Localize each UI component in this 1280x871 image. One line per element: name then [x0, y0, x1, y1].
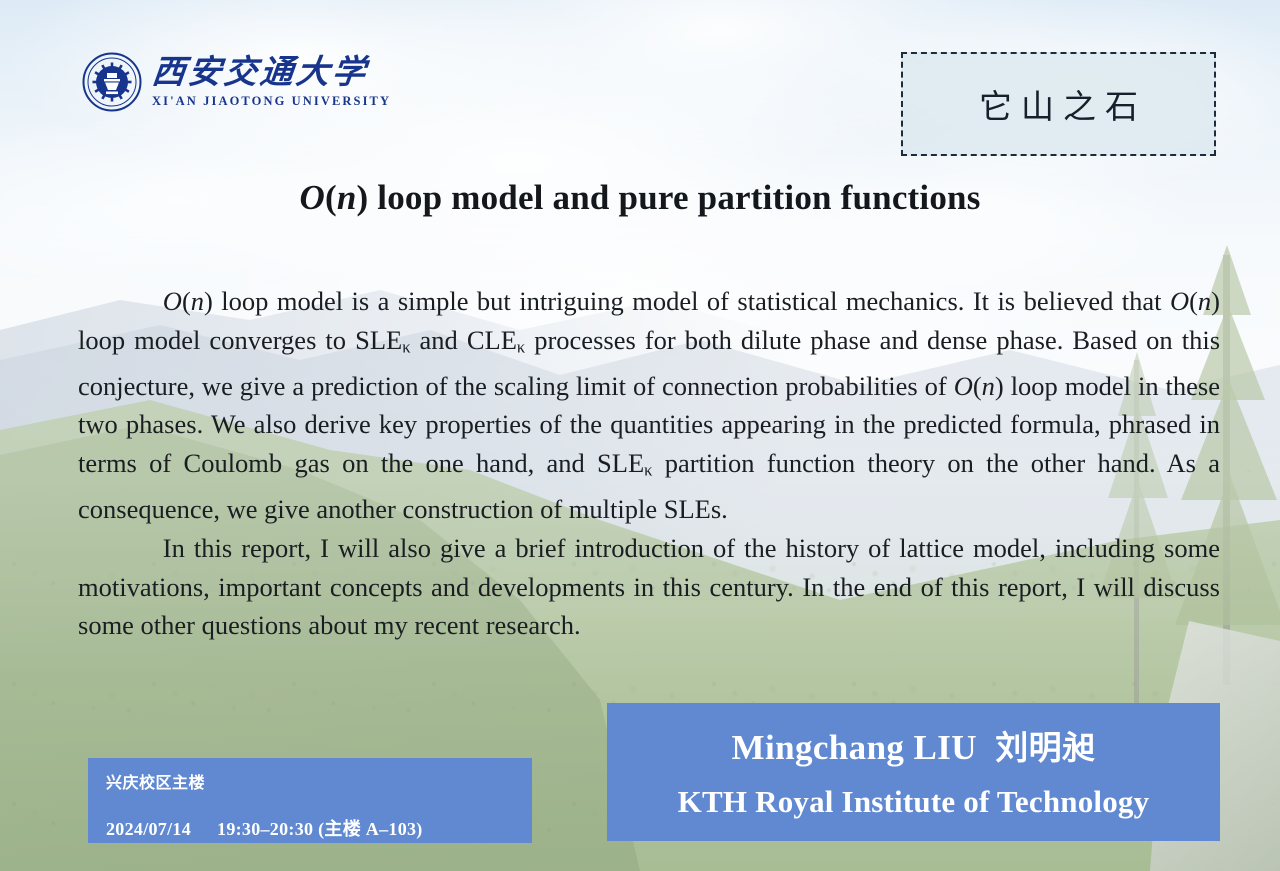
mi-o-3: O: [954, 371, 973, 401]
abs-text-3: and CLE: [410, 325, 516, 355]
seminar-poster: 西安交通大学 XI'AN JIAOTONG UNIVERSITY 它山之石 O(…: [0, 0, 1280, 871]
abstract: O(n) loop model is a simple but intrigui…: [78, 282, 1220, 645]
mi-o-1: O: [163, 286, 182, 316]
mi-o-2: O: [1170, 286, 1189, 316]
speaker-affiliation: KTH Royal Institute of Technology: [607, 784, 1220, 820]
abstract-paragraph-2: In this report, I will also give a brief…: [78, 529, 1220, 645]
venue-datetime: 2024/07/1419:30–20:30 (主楼 A–103): [106, 815, 532, 841]
xjtu-seal-icon: [82, 52, 142, 112]
poster-content: 西安交通大学 XI'AN JIAOTONG UNIVERSITY 它山之石 O(…: [0, 0, 1280, 871]
title-o: O: [299, 178, 324, 217]
page-title: O(n) loop model and pure partition funct…: [0, 178, 1280, 218]
venue-place: 兴庆校区主楼: [106, 769, 532, 793]
abs-text-1: ) loop model is a simple but intriguing …: [204, 286, 1170, 316]
mi-n-2: n: [1198, 286, 1211, 316]
speaker-box: Mingchang LIU 刘明昶 KTH Royal Institute of…: [607, 703, 1220, 841]
logo-name-cn: 西安交通大学: [150, 57, 393, 90]
title-n: n: [337, 178, 357, 217]
venue-time-room: 19:30–20:30 (主楼 A–103): [217, 819, 423, 839]
speaker-name: Mingchang LIU 刘明昶: [607, 721, 1220, 769]
venue-date: 2024/07/14: [106, 819, 191, 839]
mi-n-3: n: [982, 371, 995, 401]
cle-kappa-sub: κ: [517, 337, 525, 356]
speaker-name-en: Mingchang LIU: [732, 728, 977, 767]
logo-name-en: XI'AN JIAOTONG UNIVERSITY: [152, 95, 391, 108]
series-badge: 它山之石: [901, 52, 1216, 156]
title-rest: ) loop model and pure partition function…: [356, 178, 980, 217]
series-badge-label: 它山之石: [970, 80, 1147, 128]
abstract-paragraph-1: O(n) loop model is a simple but intrigui…: [78, 282, 1220, 528]
venue-box: 兴庆校区主楼 2024/07/1419:30–20:30 (主楼 A–103): [88, 758, 532, 843]
mi-n-1: n: [191, 286, 204, 316]
university-logo: 西安交通大学 XI'AN JIAOTONG UNIVERSITY: [82, 52, 391, 112]
speaker-name-cn: 刘明昶: [995, 728, 1095, 767]
